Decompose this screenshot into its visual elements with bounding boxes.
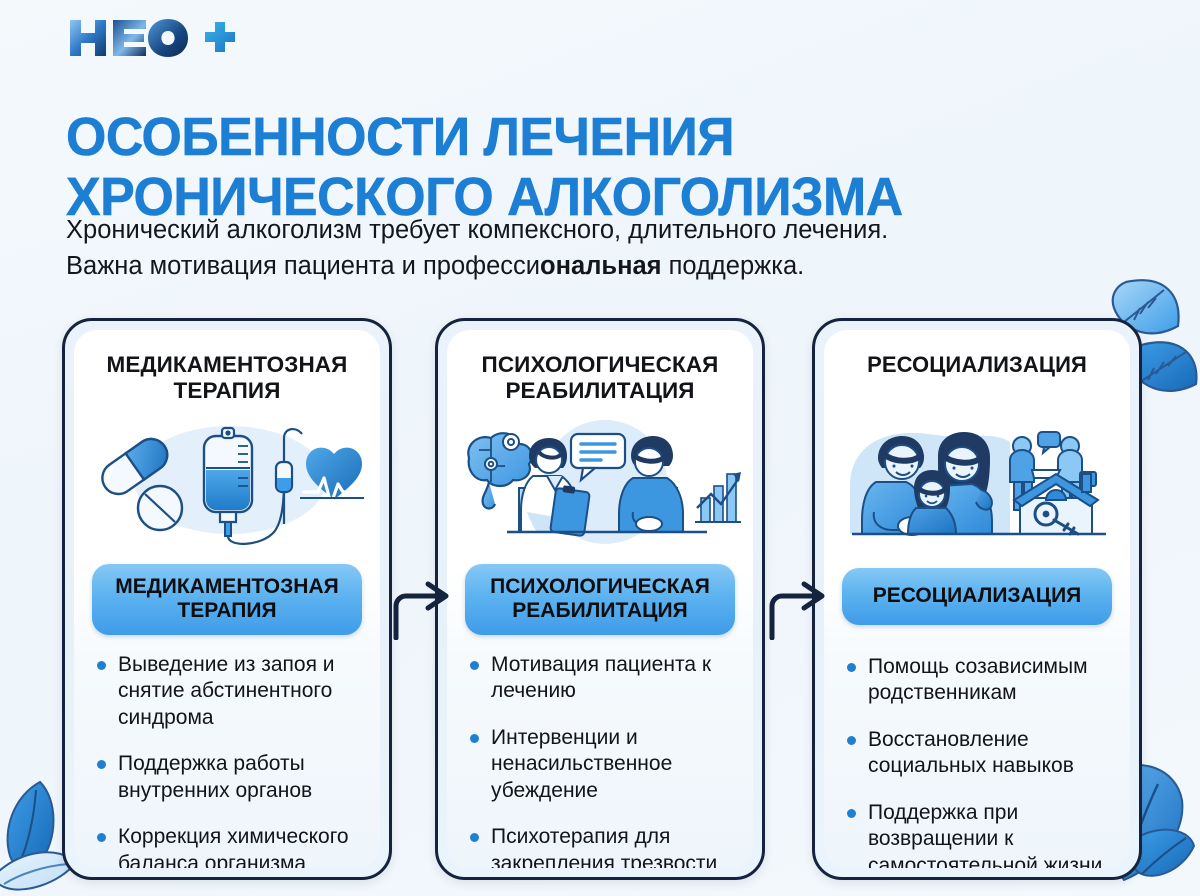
card-inner: РЕСОЦИАЛИЗАЦИЯ [824, 330, 1130, 868]
card-pill-line-1: ПСИХОЛОГИЧЕСКАЯ [490, 575, 710, 598]
card-title-line-1: ПСИХОЛОГИЧЕСКАЯ [482, 352, 719, 377]
card-inner: МЕДИКАМЕНТОЗНАЯ ТЕРАПИЯ [74, 330, 380, 868]
list-item: Мотивация пациента к лечению [469, 652, 739, 705]
card-title-line-2: РЕАБИЛИТАЦИЯ [505, 378, 694, 403]
card-pill-label[interactable]: ПСИХОЛОГИЧЕСКАЯ РЕАБИЛИТАЦИЯ [465, 564, 735, 635]
list-item: Выведение из запоя и снятие абстинентног… [96, 652, 366, 731]
page-title-line-1: ОСОБЕННОСТИ ЛЕЧЕНИЯ [66, 108, 1103, 167]
card-title: ПСИХОЛОГИЧЕСКАЯ РЕАБИЛИТАЦИЯ [457, 352, 743, 403]
page-title: ОСОБЕННОСТИ ЛЕЧЕНИЯ ХРОНИЧЕСКОГО АЛКОГОЛ… [66, 108, 1146, 227]
subtitle-part-pre: Важна мотивация пациента и професси [66, 252, 540, 280]
arrow-card1-to-card2-icon [388, 560, 460, 640]
card-title: РЕСОЦИАЛИЗАЦИЯ [834, 352, 1120, 377]
page-subtitle-line-1: Хронический алкоголизм требует компексно… [66, 212, 1126, 248]
card-title-line-1: МЕДИКАМЕНТОЗНАЯ [107, 352, 348, 377]
page-subtitle: Хронический алкоголизм требует компексно… [66, 212, 1126, 284]
card-pill-label[interactable]: РЕСОЦИАЛИЗАЦИЯ [842, 568, 1112, 625]
card-bullet-list: Выведение из запоя и снятие абстинентног… [96, 652, 366, 868]
subtitle-part-bold: ональная [540, 252, 662, 280]
card-row: МЕДИКАМЕНТОЗНАЯ ТЕРАПИЯ [0, 318, 1200, 882]
card-psihologicheskaya-reabilitaciya[interactable]: ПСИХОЛОГИЧЕСКАЯ РЕАБИЛИТАЦИЯ [435, 318, 765, 880]
card-resocializaciya[interactable]: РЕСОЦИАЛИЗАЦИЯ [812, 318, 1142, 880]
list-item: Интервенции и ненасильственное убеждение [469, 725, 739, 804]
card-title: МЕДИКАМЕНТОЗНАЯ ТЕРАПИЯ [84, 352, 370, 403]
card-title-line-2: ТЕРАПИЯ [174, 378, 281, 403]
card-pill-label[interactable]: МЕДИКАМЕНТОЗНАЯ ТЕРАПИЯ [92, 564, 362, 635]
card-medikamentoznaya-terapiya[interactable]: МЕДИКАМЕНТОЗНАЯ ТЕРАПИЯ [62, 318, 392, 880]
family-handshake-house-key-illustration [832, 416, 1122, 552]
list-item: Помощь созависимым родственникам [846, 654, 1116, 707]
card-pill-line-2: РЕАБИЛИТАЦИЯ [512, 599, 687, 622]
card-bullet-list: Мотивация пациента к лечению Интервенции… [469, 652, 739, 868]
card-inner: ПСИХОЛОГИЧЕСКАЯ РЕАБИЛИТАЦИЯ [447, 330, 753, 868]
infographic-page: ОСОБЕННОСТИ ЛЕЧЕНИЯ ХРОНИЧЕСКОГО АЛКОГОЛ… [0, 0, 1200, 896]
card-bullet-list: Помощь созависимым родственникам Восстан… [846, 654, 1116, 868]
list-item: Поддержка работы внутренних органов [96, 751, 366, 804]
card-pill-line-2: ТЕРАПИЯ [177, 599, 276, 622]
list-item: Коррекция химического баланса организма [96, 824, 366, 868]
card-title-line-1: РЕСОЦИАЛИЗАЦИЯ [867, 352, 1087, 377]
neo-plus-logo[interactable] [66, 14, 296, 62]
therapy-session-brain-chart-illustration [455, 416, 745, 552]
list-item: Психотерапия для закрепления трезвости [469, 824, 739, 868]
iv-drip-pills-heart-illustration [82, 416, 372, 552]
subtitle-part-post: поддержка. [662, 252, 805, 280]
page-subtitle-line-2: Важна мотивация пациента и профессиональ… [66, 248, 1126, 284]
list-item: Поддержка при возвращении к самостоятель… [846, 800, 1116, 868]
arrow-card2-to-card3-icon [764, 560, 836, 640]
card-pill-line-1: РЕСОЦИАЛИЗАЦИЯ [873, 584, 1082, 607]
list-item: Восстановление социальных навыков [846, 727, 1116, 780]
card-pill-line-1: МЕДИКАМЕНТОЗНАЯ [115, 575, 338, 598]
